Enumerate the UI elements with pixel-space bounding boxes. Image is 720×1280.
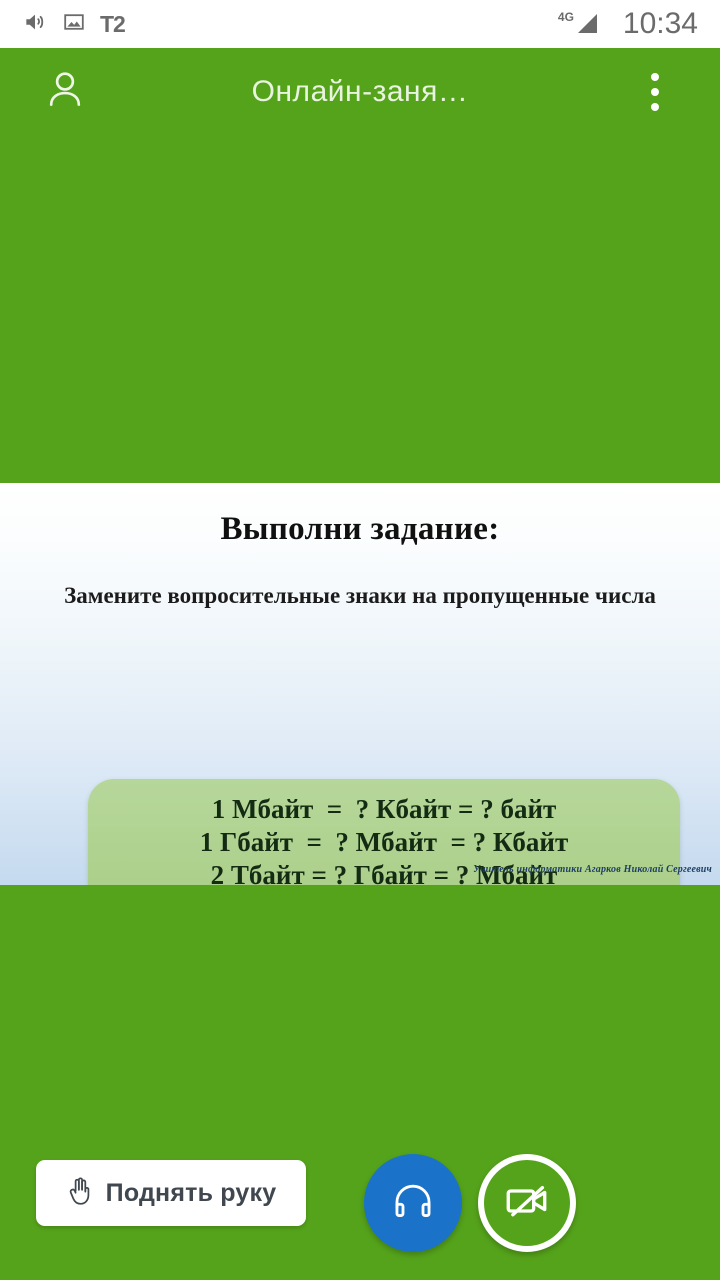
signal-bars-icon: 4G — [558, 11, 601, 37]
avatar-button[interactable] — [0, 67, 130, 118]
headphones-icon — [388, 1176, 438, 1231]
overflow-menu-icon — [651, 73, 659, 111]
equation-line: 1 Гбайт = ? Мбайт = ? Кбайт — [200, 826, 568, 859]
raised-hand-icon — [66, 1176, 94, 1211]
audio-toggle-button[interactable] — [364, 1154, 462, 1252]
shared-slide[interactable]: Выполни задание: Замените вопросительные… — [0, 483, 720, 885]
raise-hand-button[interactable]: Поднять руку — [36, 1160, 306, 1226]
call-controls: Поднять руку — [0, 1134, 720, 1280]
video-stage: Выполни задание: Замените вопросительные… — [0, 136, 720, 1280]
slide-footer-credit: Учитель информатики Агарков Николай Серг… — [473, 864, 712, 875]
video-off-icon — [502, 1176, 552, 1231]
app-root: T2 4G 10:34 Онлайн-заня… — [0, 0, 720, 1280]
carrier-logo: T2 — [100, 13, 125, 36]
person-icon — [42, 67, 88, 118]
status-bar: T2 4G 10:34 — [0, 0, 720, 48]
raise-hand-label: Поднять руку — [106, 1179, 277, 1208]
status-bar-right: 4G 10:34 — [558, 0, 720, 48]
slide-subtitle: Замените вопросительные знаки на пропуще… — [0, 581, 720, 611]
image-icon — [62, 10, 86, 39]
volume-icon — [22, 9, 48, 40]
status-bar-left: T2 — [0, 9, 125, 40]
status-clock: 10:34 — [623, 7, 698, 41]
overflow-menu-button[interactable] — [590, 73, 720, 111]
video-toggle-button[interactable] — [478, 1154, 576, 1252]
page-title: Онлайн-заня… — [130, 75, 590, 109]
slide-title: Выполни задание: — [0, 511, 720, 548]
app-bar: Онлайн-заня… — [0, 48, 720, 136]
network-type-label: 4G — [558, 11, 574, 23]
equation-line: 1 Мбайт = ? Кбайт = ? байт — [212, 793, 557, 826]
